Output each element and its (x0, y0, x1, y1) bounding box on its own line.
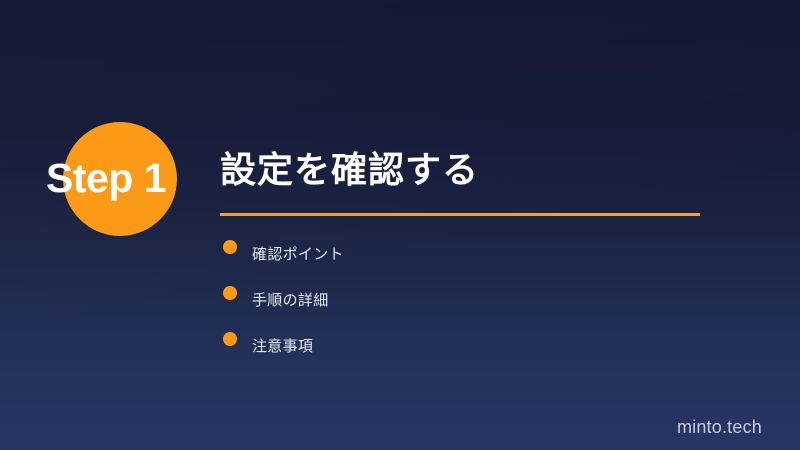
title-divider (220, 213, 700, 216)
list-item: 注意事項 (220, 324, 700, 370)
footer-brand-watermark: minto.tech (677, 417, 762, 438)
slide-canvas: Step 1 設定を確認する 確認ポイント 手順の詳細 注意事項 minto.t… (0, 0, 800, 450)
orange-dot-icon (223, 286, 237, 300)
step-number-label: Step 1 (46, 152, 236, 208)
list-item-label: 手順の詳細 (252, 292, 329, 310)
list-item-label: 確認ポイント (252, 246, 344, 264)
step-badge: Step 1 (0, 0, 220, 450)
orange-dot-icon (223, 240, 237, 254)
bullet-list: 確認ポイント 手順の詳細 注意事項 (220, 232, 700, 370)
page-title: 設定を確認する (220, 148, 479, 192)
orange-dot-icon (223, 332, 237, 346)
list-item: 確認ポイント (220, 232, 700, 278)
list-item: 手順の詳細 (220, 278, 700, 324)
list-item-label: 注意事項 (252, 338, 313, 356)
slide-content: 設定を確認する 確認ポイント 手順の詳細 注意事項 (220, 0, 800, 450)
